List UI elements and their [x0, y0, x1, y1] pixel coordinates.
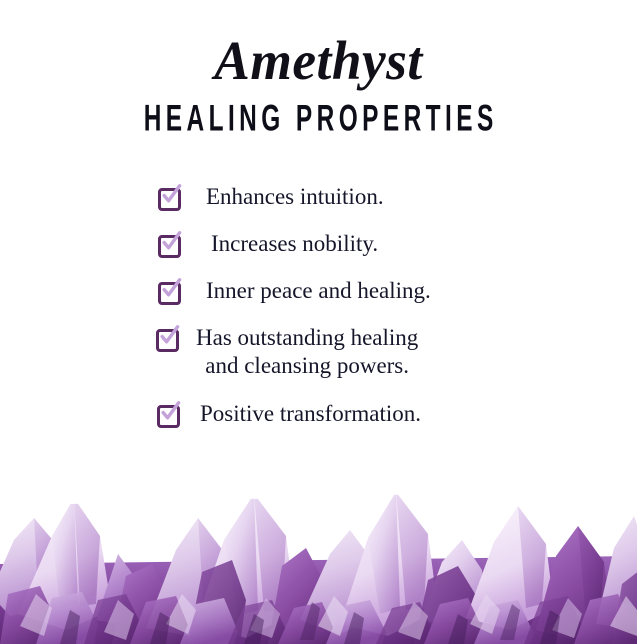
- amethyst-crystal-cluster: [0, 444, 637, 644]
- checked-checkbox-icon: [158, 233, 181, 256]
- page-title: Amethyst: [10, 30, 628, 92]
- list-item: Inner peace and healing.: [0, 277, 637, 304]
- checked-checkbox-icon: [158, 280, 181, 303]
- list-item-label: Positive transformation.: [200, 400, 421, 427]
- heading-block: Amethyst HEALING PROPERTIES: [0, 30, 637, 134]
- checked-checkbox-icon: [156, 327, 179, 350]
- amethyst-healing-properties-poster: Amethyst HEALING PROPERTIES Enhances int…: [0, 0, 637, 644]
- checked-checkbox-icon: [157, 403, 180, 426]
- checked-checkbox-icon: [158, 186, 181, 209]
- list-item-label: Enhances intuition.: [206, 183, 384, 210]
- list-item: Increases nobility.: [0, 230, 637, 257]
- list-item-label: Has outstanding healing and cleansing po…: [196, 324, 418, 380]
- list-item: Enhances intuition.: [0, 183, 637, 210]
- crystal-cluster-illustration: [0, 444, 637, 644]
- healing-properties-list: Enhances intuition. Increases nobility.: [0, 183, 637, 427]
- list-item-label: Increases nobility.: [211, 230, 378, 257]
- list-item: Has outstanding healing and cleansing po…: [0, 324, 637, 380]
- list-item-label: Inner peace and healing.: [206, 277, 431, 304]
- page-subtitle: HEALING PROPERTIES: [83, 98, 554, 138]
- list-item: Positive transformation.: [0, 400, 637, 427]
